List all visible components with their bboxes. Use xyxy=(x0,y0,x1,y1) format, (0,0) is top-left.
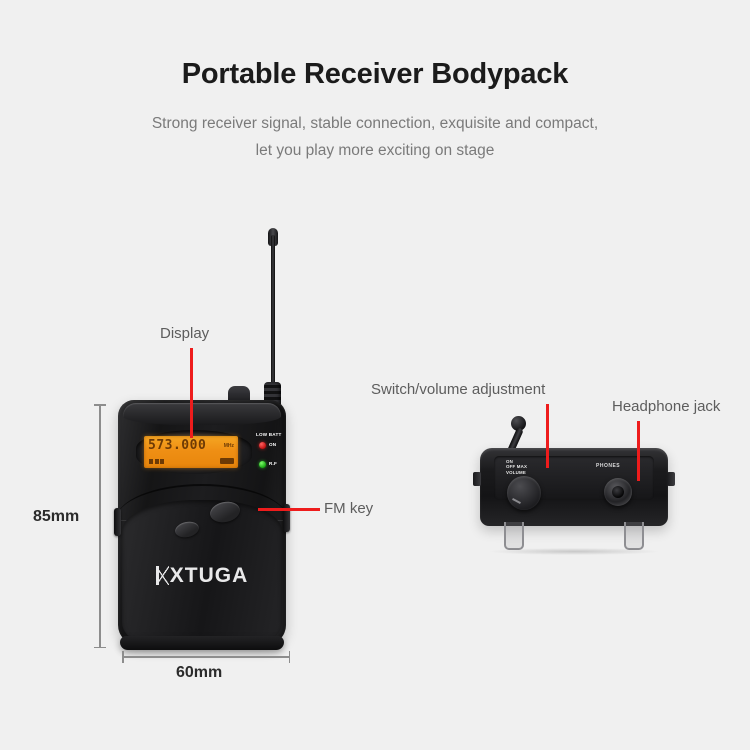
leader-line-fm-key xyxy=(258,508,320,511)
callout-label-fm-key: FM key xyxy=(324,500,373,517)
rf-label: R.F xyxy=(269,461,277,466)
subtitle-line-1: Strong receiver signal, stable connectio… xyxy=(152,115,598,132)
lcd-frequency-value: 573.000 xyxy=(148,439,206,452)
rf-led xyxy=(259,461,266,468)
callout-label-headphone-jack: Headphone jack xyxy=(612,398,720,415)
lcd-display: 573.000 MHz xyxy=(144,436,238,468)
bodypack-front-view: 573.000 MHz LOW BATT ON R.F XTUGA xyxy=(118,400,286,645)
belt-clip-leg-left xyxy=(504,522,524,550)
low-batt-led xyxy=(259,442,266,449)
side-nub-left xyxy=(473,472,481,486)
lcd-unit-label: MHz xyxy=(224,443,234,449)
x-mark-icon xyxy=(156,566,169,585)
page-subtitle: Strong receiver signal, stable connectio… xyxy=(0,110,750,164)
callout-label-display: Display xyxy=(160,325,209,342)
low-batt-label: LOW BATT xyxy=(256,432,282,437)
device-shadow xyxy=(490,548,658,555)
volume-marking-volume: VOLUME xyxy=(506,470,526,475)
product-infographic: Portable Receiver Bodypack Strong receiv… xyxy=(0,0,750,750)
on-label: ON xyxy=(269,442,276,447)
dimension-line-height xyxy=(99,404,101,648)
device-base xyxy=(120,636,284,650)
leader-line-switch-volume xyxy=(546,404,549,468)
bodypack-top-view: ON OFF MAX VOLUME PHONES xyxy=(470,430,678,555)
lcd-signal-bars xyxy=(149,459,164,464)
side-nub-right xyxy=(667,472,675,486)
side-clip-left xyxy=(114,508,121,536)
page-title: Portable Receiver Bodypack xyxy=(0,58,750,91)
leader-line-headphone-jack xyxy=(637,421,640,481)
lcd-indicator-tag xyxy=(220,458,234,464)
callout-label-switch-volume: Switch/volume adjustment xyxy=(371,381,545,398)
dimension-label-height: 85mm xyxy=(33,508,79,526)
headphone-jack-port[interactable] xyxy=(604,478,632,506)
belt-clip-leg-right xyxy=(624,522,644,550)
phones-jack-label: PHONES xyxy=(596,463,620,469)
volume-knob[interactable] xyxy=(507,476,541,510)
leader-line-display xyxy=(190,348,193,438)
dimension-line-width xyxy=(122,656,290,658)
subtitle-line-2: let you play more exciting on stage xyxy=(256,142,495,159)
dimension-label-width: 60mm xyxy=(176,664,222,682)
volume-markings: ON OFF MAX VOLUME xyxy=(506,459,527,475)
brand-name: XTUGA xyxy=(170,564,249,587)
volume-marking-on: ON xyxy=(506,459,513,464)
antenna-stem xyxy=(271,235,275,385)
device-top-shoulder xyxy=(123,403,281,425)
volume-marking-off-max: OFF MAX xyxy=(506,464,527,469)
brand-logo: XTUGA xyxy=(118,564,286,588)
